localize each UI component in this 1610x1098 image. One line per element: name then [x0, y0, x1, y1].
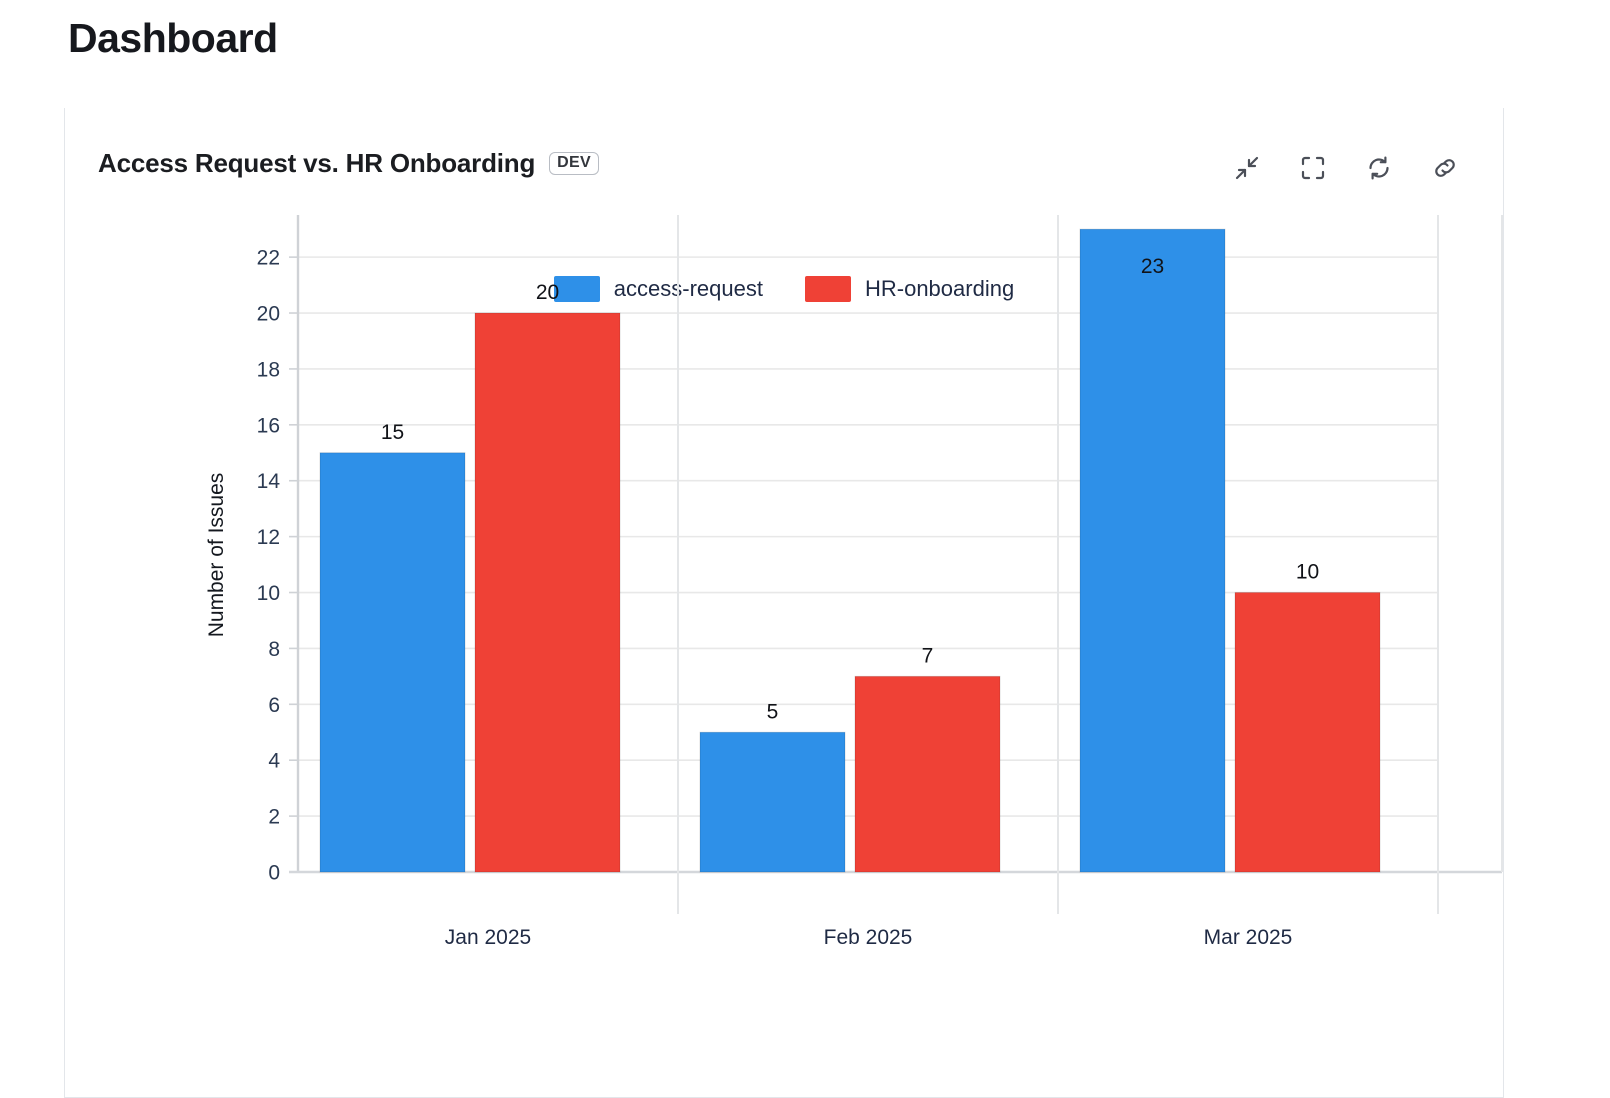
bar[interactable] — [475, 313, 620, 872]
bar-value-label: 23 — [1141, 255, 1164, 278]
y-axis-tick-label: 16 — [257, 414, 280, 437]
dashboard-page: Dashboard Access Request vs. HR Onboardi… — [0, 0, 1610, 1082]
collapse-icon[interactable] — [1233, 154, 1261, 182]
bar[interactable] — [1235, 593, 1380, 872]
card-title-group: Access Request vs. HR Onboarding DEV — [98, 148, 599, 179]
x-axis-tick-label: Feb 2025 — [824, 926, 913, 949]
y-axis-tick-label: 8 — [268, 638, 280, 661]
y-axis-tick-label: 22 — [257, 247, 280, 270]
link-icon[interactable] — [1431, 154, 1459, 182]
bar[interactable] — [1080, 229, 1225, 872]
y-axis-tick-label: 4 — [268, 750, 280, 773]
y-axis-tick-label: 6 — [268, 694, 280, 717]
bar-value-label: 15 — [381, 421, 404, 444]
refresh-icon[interactable] — [1365, 154, 1393, 182]
y-axis-tick-label: 10 — [257, 582, 280, 605]
y-axis-tick-label: 18 — [257, 358, 280, 381]
chart-area: access-request HR-onboarding 02468101214… — [65, 204, 1503, 1098]
plot-wrapper: 0246810121416182022Number of Issues1520J… — [65, 204, 1503, 1098]
page-title: Dashboard — [68, 10, 278, 66]
y-axis-tick-label: 2 — [268, 806, 280, 829]
bar[interactable] — [855, 676, 1000, 872]
card-action-bar — [1233, 154, 1459, 182]
y-axis-tick-label: 12 — [257, 526, 280, 549]
x-axis-tick-label: Jan 2025 — [445, 926, 531, 949]
x-axis-tick-label: Mar 2025 — [1204, 926, 1293, 949]
y-axis-tick-label: 0 — [268, 862, 280, 885]
y-axis-title: Number of Issues — [205, 473, 228, 638]
chart-card: Access Request vs. HR Onboarding DEV — [64, 108, 1504, 1098]
card-title: Access Request vs. HR Onboarding — [98, 148, 535, 179]
bar-value-label: 7 — [922, 644, 934, 667]
card-header: Access Request vs. HR Onboarding DEV — [65, 108, 1503, 204]
dev-badge: DEV — [549, 152, 599, 175]
bar-chart-svg: 0246810121416182022Number of Issues1520J… — [65, 204, 1505, 1098]
y-axis-tick-label: 20 — [257, 303, 280, 326]
bar[interactable] — [320, 453, 465, 872]
fullscreen-icon[interactable] — [1299, 154, 1327, 182]
bar-value-label: 5 — [767, 700, 779, 723]
bar-value-label: 20 — [536, 281, 559, 304]
bar[interactable] — [700, 732, 845, 872]
bar-value-label: 10 — [1296, 561, 1319, 584]
y-axis-tick-label: 14 — [257, 470, 281, 493]
